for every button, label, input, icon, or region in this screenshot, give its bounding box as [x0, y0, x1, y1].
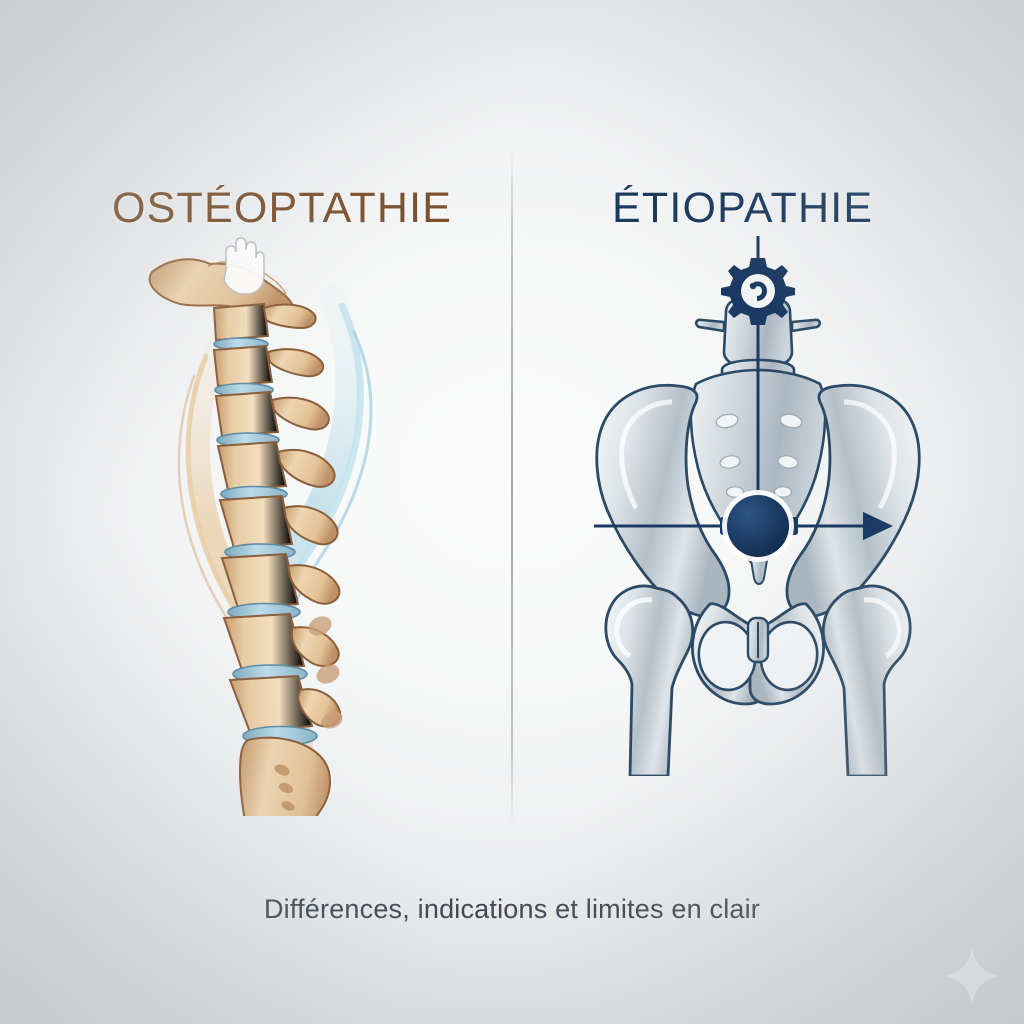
vertical-divider [511, 148, 513, 826]
pubic-arch [692, 604, 823, 704]
spine-illustration [96, 236, 436, 816]
sparkle-watermark [942, 946, 1002, 1006]
sacrum-coccyx [240, 738, 330, 816]
gear-icon [713, 250, 803, 340]
caption-text: Différences, indications et limites en c… [0, 894, 1024, 925]
infographic-canvas: OSTÉOPTATHIE ÉTIOPATHIE Différences, ind… [0, 0, 1024, 1024]
left-panel-title: OSTÉOPTATHIE [112, 184, 452, 233]
hand-icon [224, 238, 264, 294]
right-femur [823, 586, 910, 776]
right-panel-title: ÉTIOPATHIE [612, 184, 873, 233]
left-femur [606, 586, 693, 776]
